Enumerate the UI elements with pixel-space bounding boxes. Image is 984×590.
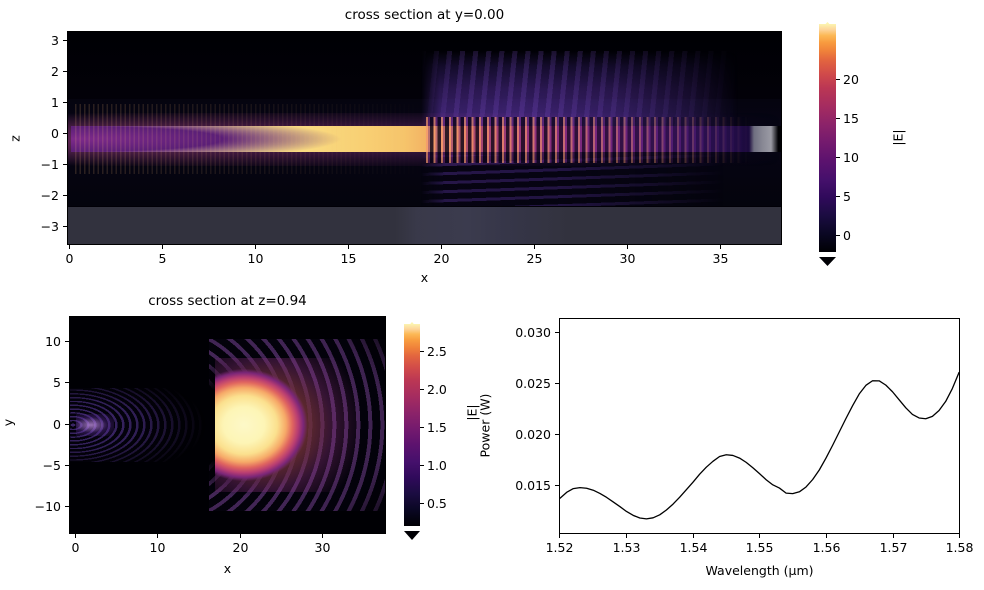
- bottom-right-ylabel: Power (W): [478, 361, 493, 491]
- br-xtick-label: 1.55: [729, 540, 790, 555]
- bl-ytick-label: 0: [15, 417, 61, 432]
- top-colorbar-tick-label: 15: [843, 111, 859, 126]
- br-xtick-label: 1.57: [863, 540, 924, 555]
- top-cross-section-heatmap[interactable]: [67, 31, 782, 245]
- top-panel-xlabel: x: [67, 270, 782, 285]
- top-ytick-label: 1: [20, 95, 59, 110]
- bl-ytick-label: 10: [15, 334, 61, 349]
- top-panel-ylabel: z: [8, 119, 23, 159]
- radiated-beam-core: [215, 358, 360, 492]
- bl-xtick-label: 30: [302, 540, 343, 555]
- top-ytick-label: 2: [20, 64, 59, 79]
- substrate-layer: [68, 207, 781, 244]
- top-xtick-label: 30: [607, 251, 648, 266]
- top-xtick-label: 15: [328, 251, 369, 266]
- top-colorbar-tick-label: 0: [843, 228, 851, 243]
- br-xtick-label: 1.58: [929, 540, 984, 555]
- top-colorbar-tick-label: 10: [843, 150, 859, 165]
- br-xtick-label: 1.52: [529, 540, 590, 555]
- bl-colorbar-tick-label: 0.5: [427, 496, 447, 511]
- colorbar-extend-min-arrow: [819, 251, 836, 260]
- top-colorbar-tick-label: 20: [843, 72, 859, 87]
- bl-ytick-label: −5: [15, 458, 61, 473]
- bl-colorbar-tick-label: 2.5: [427, 344, 447, 359]
- top-xtick-label: 20: [421, 251, 462, 266]
- top-xtick-label: 25: [514, 251, 555, 266]
- bl-colorbar-tick-label: 1.5: [427, 420, 447, 435]
- bottom-left-panel-title: cross section at z=0.94: [69, 293, 386, 309]
- br-xtick-label: 1.53: [596, 540, 657, 555]
- bottom-left-colorbar[interactable]: [404, 324, 420, 526]
- top-ytick-label: 0: [20, 126, 59, 141]
- top-colorbar-tick-label: 5: [843, 189, 851, 204]
- input-mode-spot: [76, 414, 114, 436]
- colorbar-gradient: [819, 24, 836, 252]
- top-xtick-label: 5: [142, 251, 183, 266]
- top-xtick-label: 10: [235, 251, 276, 266]
- power-spectrum-plot[interactable]: [559, 318, 960, 534]
- bottom-right-xlabel: Wavelength (μm): [559, 563, 960, 578]
- top-xtick-label: 0: [49, 251, 90, 266]
- power-curve: [560, 319, 959, 533]
- top-colorbar-label: |E|: [891, 118, 906, 158]
- colorbar-extend-min-arrow: [404, 525, 420, 534]
- figure-canvas: cross section at y=0.00 3 2 1 0 −1 −2 −3: [0, 0, 984, 590]
- top-ytick-label: −2: [20, 188, 59, 203]
- top-ytick-label: −3: [20, 219, 59, 234]
- top-ytick-label: 3: [20, 33, 59, 48]
- br-xtick-label: 1.56: [796, 540, 857, 555]
- colorbar-gradient: [404, 324, 420, 526]
- bl-colorbar-tick-label: 2.0: [427, 382, 447, 397]
- bl-xtick-label: 10: [137, 540, 178, 555]
- bl-ytick-label: −10: [15, 499, 61, 514]
- top-colorbar[interactable]: [819, 24, 836, 252]
- bl-ytick-label: 5: [15, 375, 61, 390]
- bottom-left-cross-section-heatmap[interactable]: [69, 316, 386, 534]
- bl-xtick-label: 20: [220, 540, 261, 555]
- br-xtick-label: 1.54: [663, 540, 724, 555]
- top-panel-title: cross section at y=0.00: [67, 7, 782, 23]
- top-xtick-label: 35: [700, 251, 741, 266]
- grating-teeth-pattern: [426, 117, 749, 164]
- bl-colorbar-tick-label: 1.0: [427, 458, 447, 473]
- top-ytick-label: −1: [20, 157, 59, 172]
- br-ytick-label: 0.030: [475, 325, 551, 340]
- bottom-left-ylabel: y: [1, 403, 16, 443]
- bl-xtick-label: 0: [55, 540, 96, 555]
- bottom-left-xlabel: x: [69, 561, 386, 576]
